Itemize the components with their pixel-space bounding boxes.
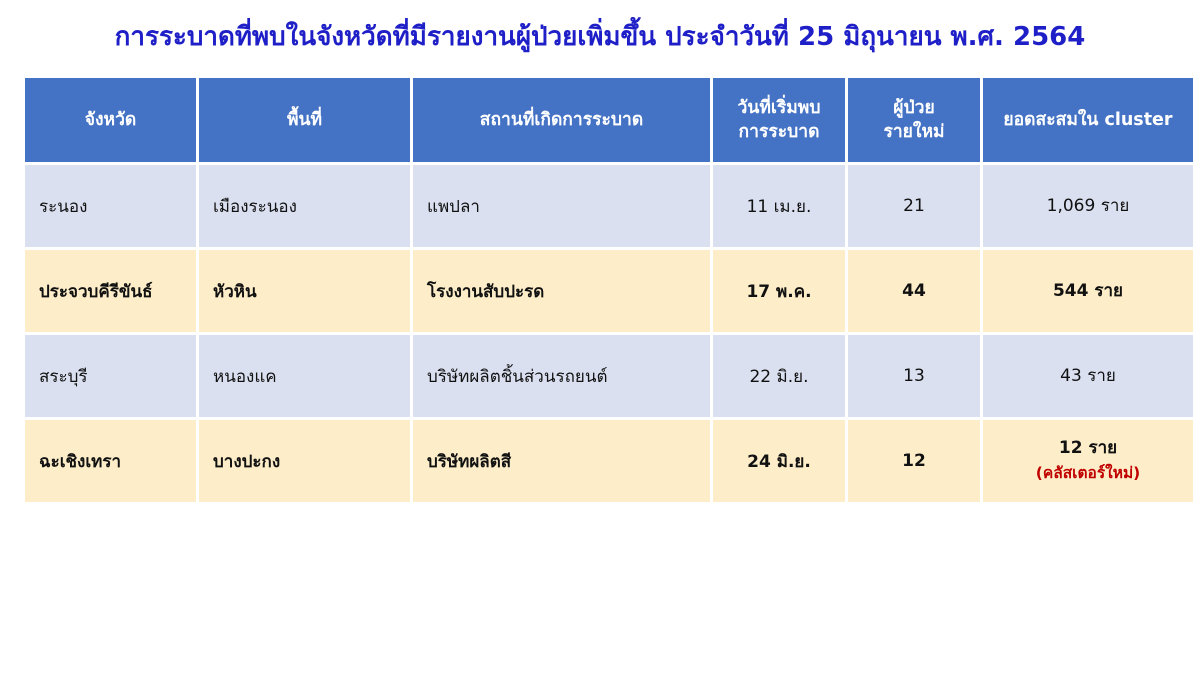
page-title: การระบาดที่พบในจังหวัดที่มีรายงานผู้ป่วย… bbox=[0, 20, 1200, 54]
cluster-total-value: 544 ราย bbox=[1053, 281, 1123, 301]
column-header-place-line1: สถานที่เกิดการระบาด bbox=[427, 108, 696, 132]
new-cluster-badge: (คลัสเตอร์ใหม่) bbox=[997, 462, 1179, 485]
column-header-area: พื้นที่ bbox=[199, 78, 410, 162]
column-header-start-date-line2: การระบาด bbox=[727, 120, 831, 144]
cell-place: บริษัทผลิตชิ้นส่วนรถยนต์ bbox=[413, 335, 710, 417]
cell-place: แพปลา bbox=[413, 165, 710, 247]
column-header-start-date-line1: วันที่เริ่มพบ bbox=[727, 96, 831, 120]
column-header-new-cases: ผู้ป่วย รายใหม่ bbox=[848, 78, 980, 162]
cell-start-date: 11 เม.ย. bbox=[713, 165, 845, 247]
outbreak-table-container: จังหวัด พื้นที่ สถานที่เกิดการระบาด วันท… bbox=[25, 78, 1172, 502]
cluster-total-value: 43 ราย bbox=[1060, 366, 1116, 386]
cell-province: สระบุรี bbox=[25, 335, 196, 417]
cell-start-date: 24 มิ.ย. bbox=[713, 420, 845, 502]
cell-province: ระนอง bbox=[25, 165, 196, 247]
cluster-total-value: 12 ราย bbox=[1059, 438, 1117, 458]
cell-cluster-total: 12 ราย (คลัสเตอร์ใหม่) bbox=[983, 420, 1193, 502]
slide-page: การระบาดที่พบในจังหวัดที่มีรายงานผู้ป่วย… bbox=[0, 0, 1200, 675]
table-header: จังหวัด พื้นที่ สถานที่เกิดการระบาด วันท… bbox=[25, 78, 1193, 162]
cell-place: บริษัทผลิตสี bbox=[413, 420, 710, 502]
column-header-cluster-total: ยอดสะสมใน cluster bbox=[983, 78, 1193, 162]
cell-place: โรงงานสับปะรด bbox=[413, 250, 710, 332]
cell-new-cases: 21 bbox=[848, 165, 980, 247]
table-row: ประจวบคีรีขันธ์ หัวหิน โรงงานสับปะรด 17 … bbox=[25, 250, 1193, 332]
table-header-row: จังหวัด พื้นที่ สถานที่เกิดการระบาด วันท… bbox=[25, 78, 1193, 162]
column-header-area-line1: พื้นที่ bbox=[213, 108, 396, 132]
outbreak-table: จังหวัด พื้นที่ สถานที่เกิดการระบาด วันท… bbox=[22, 75, 1196, 505]
cell-area: หัวหิน bbox=[199, 250, 410, 332]
cell-start-date: 22 มิ.ย. bbox=[713, 335, 845, 417]
cell-new-cases: 13 bbox=[848, 335, 980, 417]
cell-new-cases: 12 bbox=[848, 420, 980, 502]
table-row: ระนอง เมืองระนอง แพปลา 11 เม.ย. 21 1,069… bbox=[25, 165, 1193, 247]
cell-province: ประจวบคีรีขันธ์ bbox=[25, 250, 196, 332]
cell-area: บางปะกง bbox=[199, 420, 410, 502]
table-body: ระนอง เมืองระนอง แพปลา 11 เม.ย. 21 1,069… bbox=[25, 165, 1193, 502]
cell-province: ฉะเชิงเทรา bbox=[25, 420, 196, 502]
column-header-province-line1: จังหวัด bbox=[39, 108, 182, 132]
column-header-start-date: วันที่เริ่มพบ การระบาด bbox=[713, 78, 845, 162]
cell-cluster-total: 544 ราย bbox=[983, 250, 1193, 332]
cell-cluster-total: 43 ราย bbox=[983, 335, 1193, 417]
column-header-new-cases-line1: ผู้ป่วย bbox=[862, 96, 966, 120]
column-header-province: จังหวัด bbox=[25, 78, 196, 162]
cell-start-date: 17 พ.ค. bbox=[713, 250, 845, 332]
column-header-cluster-total-line1: ยอดสะสมใน cluster bbox=[997, 108, 1179, 132]
column-header-new-cases-line2: รายใหม่ bbox=[862, 120, 966, 144]
cell-area: เมืองระนอง bbox=[199, 165, 410, 247]
table-row: สระบุรี หนองแค บริษัทผลิตชิ้นส่วนรถยนต์ … bbox=[25, 335, 1193, 417]
table-row: ฉะเชิงเทรา บางปะกง บริษัทผลิตสี 24 มิ.ย.… bbox=[25, 420, 1193, 502]
cell-cluster-total: 1,069 ราย bbox=[983, 165, 1193, 247]
cell-area: หนองแค bbox=[199, 335, 410, 417]
cell-new-cases: 44 bbox=[848, 250, 980, 332]
column-header-place: สถานที่เกิดการระบาด bbox=[413, 78, 710, 162]
cluster-total-value: 1,069 ราย bbox=[1047, 196, 1130, 216]
